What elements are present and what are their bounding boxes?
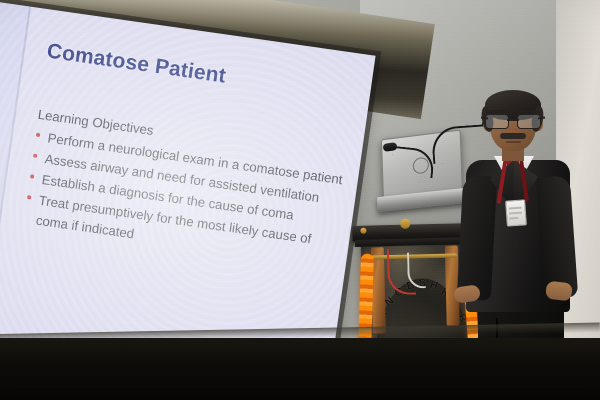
stage-floor (0, 338, 600, 400)
mouth (506, 141, 521, 143)
name-badge (505, 199, 527, 226)
eyeglass-lens (517, 114, 541, 129)
eyeglass-bridge (507, 119, 519, 121)
eyeglasses-icon (484, 114, 542, 128)
presenter-right-arm (536, 175, 578, 299)
presenter-right-hand (545, 281, 573, 302)
presenter-left-arm (457, 175, 497, 301)
slide-body: Learning Objectives Perform a neurologic… (22, 105, 353, 275)
badge-line (509, 207, 522, 209)
badge-line (509, 212, 522, 214)
slide-title: Comatose Patient (45, 39, 227, 88)
badge-line (509, 217, 518, 219)
nameplate-char: H (428, 279, 441, 293)
eyeglass-temple (538, 117, 545, 120)
mustache (500, 133, 526, 139)
eyeglass-lens (485, 114, 509, 129)
presentation-photo: S Comatose Patient Learning Objectives P… (0, 0, 600, 400)
